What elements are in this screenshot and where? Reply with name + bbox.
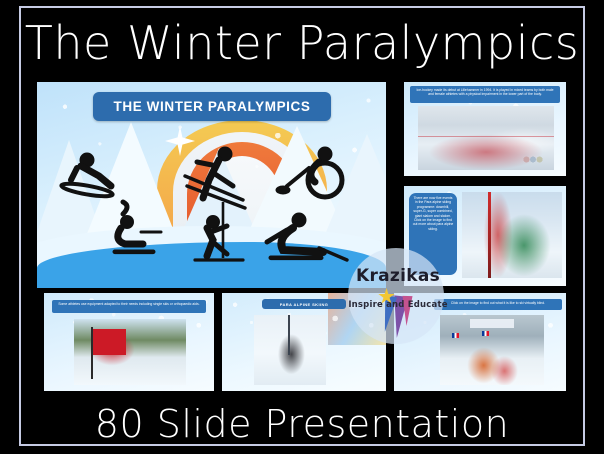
rink-centre-line [418,136,554,137]
poster-canvas: The Winter Paralympics [0,0,604,454]
raiffeisen-banner-flag [92,329,126,355]
gate-pole [288,315,290,355]
france-flag-icon [482,331,489,336]
slide-photo[interactable] [74,319,186,385]
agitos-logo-icon [522,154,544,165]
slide-preview-visually-impaired[interactable]: Click on the image to find out what it i… [394,293,566,391]
slide-photo[interactable] [462,192,562,278]
slide-banner-label: THE WINTER PARALYMPICS [114,99,311,114]
slide-banner: PARA ALPINE SKIING [262,299,346,309]
slide-caption: Ice-hockey made its debut at Lillehammer… [410,86,560,103]
slide-count-title: 80 Slide Presentation [0,400,604,448]
page-title: The Winter Paralympics [0,14,604,72]
slide-preview-adapted-equipment[interactable]: Some athletes use equipment adapted to t… [44,293,214,391]
slide-caption: Click on the image to find out what it i… [434,299,562,310]
slide-preview-para-alpine-events[interactable]: There are now five events in the Para al… [404,186,566,286]
slide-preview-ice-hockey[interactable]: Ice-hockey made its debut at Lillehammer… [404,82,566,176]
finish-banner [470,319,514,328]
slide-caption: Some athletes use equipment adapted to t… [52,300,206,313]
slide-banner: THE WINTER PARALYMPICS [93,92,331,121]
slide-photo[interactable] [418,106,554,170]
slide-photo[interactable] [440,315,544,385]
slalom-gate-pole [488,192,491,278]
slide-preview-para-alpine-skiing[interactable]: PARA ALPINE SKIING [222,293,386,391]
france-flag-icon [452,333,459,338]
slide-photo[interactable] [254,315,326,385]
slide-preview-title[interactable]: THE WINTER PARALYMPICS [37,82,386,288]
gate-pole [91,327,93,379]
slide-caption: There are now five events in the Para al… [409,193,457,275]
